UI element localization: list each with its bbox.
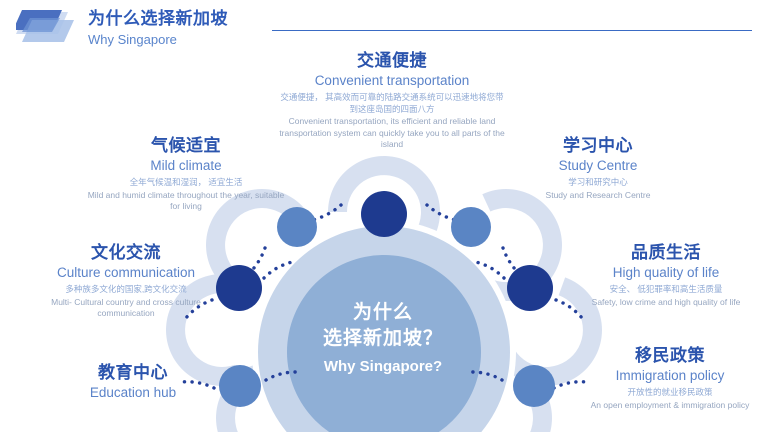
callout-quality-of-life[interactable]: 品质生活 High quality of life 安全、 低犯罪率和高生活质量…	[570, 242, 762, 308]
callout-culture[interactable]: 文化交流 Culture communication 多种族多文化的国家,跨文化…	[26, 242, 226, 320]
callout-study-centre-title-cn: 学习中心	[498, 135, 698, 156]
callout-culture-title-en: Culture communication	[26, 264, 226, 281]
node-quality-of-life[interactable]	[507, 265, 553, 311]
callout-quality-sub-cn: 安全、 低犯罪率和高生活质量	[570, 284, 762, 296]
callout-transportation-title-en: Convenient transportation	[278, 72, 506, 89]
callout-culture-sub-cn: 多种族多文化的国家,跨文化交流	[26, 284, 226, 296]
node-education[interactable]	[219, 365, 261, 407]
callout-culture-title-cn: 文化交流	[26, 242, 226, 263]
callout-transportation-title-cn: 交通便捷	[278, 50, 506, 71]
node-immigration[interactable]	[513, 365, 555, 407]
callout-study-centre[interactable]: 学习中心 Study Centre 学习和研究中心 Study and Rese…	[498, 135, 698, 201]
callout-transportation-sub-cn: 交通便捷， 其高效而可靠的陆路交通系统可以迅速地将您带到这座岛国的四面八方	[278, 92, 506, 115]
slide-canvas: 为什么选择新加坡 Why Singapore	[0, 0, 768, 432]
callout-education[interactable]: 教育中心 Education hub	[58, 362, 208, 401]
callout-study-centre-sub-cn: 学习和研究中心	[498, 177, 698, 189]
callout-education-title-en: Education hub	[58, 384, 208, 401]
callout-climate-title-cn: 气候适宜	[86, 135, 286, 156]
callout-quality-sub-en: Safety, low crime and high quality of li…	[570, 297, 762, 309]
node-study-centre[interactable]	[451, 207, 491, 247]
callout-immigration-title-cn: 移民政策	[578, 345, 762, 366]
callout-immigration-sub-en: An open employment & immigration policy	[578, 400, 762, 412]
callout-quality-title-en: High quality of life	[570, 264, 762, 281]
callout-climate[interactable]: 气候适宜 Mild climate 全年气候温和湿润， 适宜生活 Mild an…	[86, 135, 286, 213]
callout-climate-sub-cn: 全年气候温和湿润， 适宜生活	[86, 177, 286, 189]
node-transportation[interactable]	[361, 191, 407, 237]
callout-study-centre-title-en: Study Centre	[498, 157, 698, 174]
callout-immigration[interactable]: 移民政策 Immigration policy 开放性的就业移民政策 An op…	[578, 345, 762, 411]
callout-climate-title-en: Mild climate	[86, 157, 286, 174]
callout-education-title-cn: 教育中心	[58, 362, 208, 383]
node-climate[interactable]	[277, 207, 317, 247]
callout-transportation[interactable]: 交通便捷 Convenient transportation 交通便捷， 其高效…	[278, 50, 506, 151]
callout-quality-title-cn: 品质生活	[570, 242, 762, 263]
callout-climate-sub-en: Mild and humid climate throughout the ye…	[86, 190, 286, 213]
callout-transportation-sub-en: Convenient transportation, its efficient…	[278, 116, 506, 151]
callout-culture-sub-en: Multi- Cultural country and cross cultur…	[26, 297, 226, 320]
callout-immigration-title-en: Immigration policy	[578, 367, 762, 384]
callout-study-centre-sub-en: Study and Research Centre	[498, 190, 698, 202]
callout-immigration-sub-cn: 开放性的就业移民政策	[578, 387, 762, 399]
